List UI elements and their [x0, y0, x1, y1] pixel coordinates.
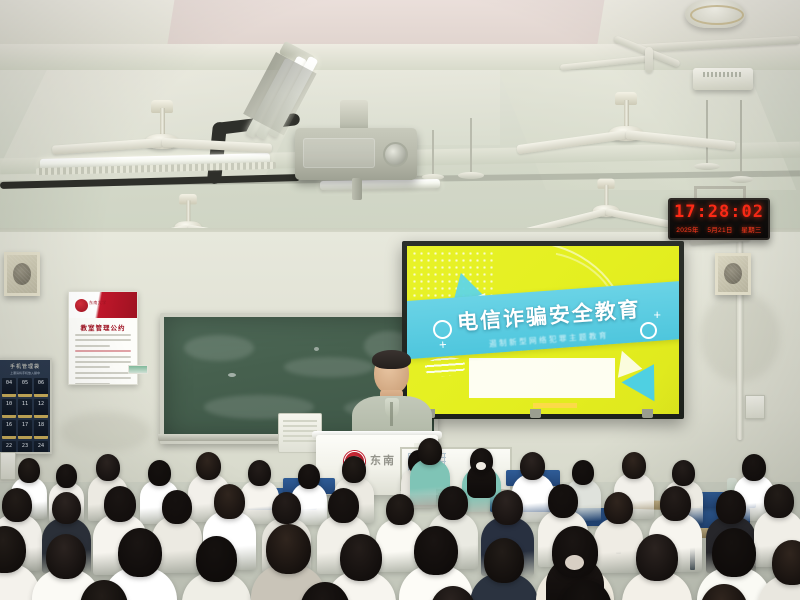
screen-mount-row [414, 409, 662, 418]
audience-member-head [298, 464, 320, 489]
audience-member-head [104, 486, 136, 522]
wall-speaker-right [715, 253, 751, 295]
projector-support-arm [352, 178, 362, 200]
ceiling-dome-light-ring [690, 5, 744, 25]
audience-member-head [660, 486, 691, 521]
audience-member-head [340, 534, 382, 581]
phone-board-cell-number: 05 [18, 380, 32, 386]
projector-body-panel [303, 138, 375, 168]
audience-member-head [272, 492, 301, 524]
audience-member-head [622, 452, 646, 479]
slide-yellow-underline [533, 403, 577, 408]
fan-rod [186, 200, 190, 222]
ceiling-hanger-rod-d [432, 130, 434, 178]
audience-member-head [56, 464, 77, 488]
audience-member-head [162, 490, 192, 524]
audience-member-head [672, 460, 695, 486]
slide-surface: + + 电信诈骗安全教育 遏制新型网络犯罪主题教育 [407, 246, 679, 414]
slide-white-content-box [469, 358, 615, 398]
clock-weekday: 星期三 [741, 224, 761, 234]
screen-mount-right [642, 409, 653, 418]
audience-member-head [414, 526, 458, 575]
phone-board-cell-number: 11 [18, 401, 32, 407]
ceiling-hanger-plate-a [694, 163, 720, 170]
projection-screen: + + 电信诈骗安全教育 遏制新型网络犯罪主题教育 [402, 241, 684, 419]
audience-member-head [604, 492, 633, 524]
wall-small-sign [128, 365, 148, 374]
ceiling-fan-right-far [592, 185, 620, 219]
wall-speaker-left [4, 252, 40, 296]
audience-member-head [418, 438, 442, 465]
ac-vent-grille [703, 72, 743, 77]
audience-member-head [712, 528, 756, 577]
ceiling-pipe-drop [645, 47, 653, 73]
audience-member-head [484, 538, 524, 583]
phone-board-cell: 11 [18, 399, 32, 418]
fan-rod [624, 100, 629, 128]
phone-board-subtitle: 上课请将手机放入袋中 [0, 371, 50, 375]
ceiling-hanger-rod-a [706, 100, 708, 168]
fan-rod [160, 108, 165, 136]
poster-body-text [75, 334, 131, 385]
audience-member-head [438, 486, 468, 520]
phone-board-cell-number: 17 [18, 422, 32, 428]
phone-board-cell: 10 [2, 399, 16, 418]
audience-member-head [548, 484, 578, 518]
ceiling-hanger-rod-b [740, 100, 742, 180]
poster-title: 教室管理公约 [69, 322, 137, 332]
audience-member-head [2, 488, 32, 522]
ceiling-fan-left [142, 108, 182, 158]
phone-board-cell-number: 12 [34, 401, 48, 407]
presenter-hair [372, 350, 411, 369]
university-emblem-icon [74, 298, 89, 313]
audience-member-head [266, 524, 311, 574]
ceiling-hanger-plate-c [458, 172, 484, 179]
audience-member-head [214, 484, 245, 519]
projector-lens [383, 142, 408, 167]
phone-board-cell-number: 10 [2, 401, 16, 407]
speaker-grille [718, 256, 748, 292]
audience-member-head [196, 536, 237, 582]
audience-member-head [764, 484, 794, 518]
audience-member-head [96, 454, 120, 481]
audience-member-head [492, 490, 523, 525]
phone-board-cell-number: 04 [2, 380, 16, 386]
audience-member-head [148, 460, 171, 486]
clock-date-row: 2025年 5月21日 星期三 [672, 224, 766, 234]
projector-ceiling-mount [340, 100, 368, 130]
ceiling-fan-right [606, 100, 646, 150]
audience-member-head [386, 494, 414, 525]
audience-member-head [118, 528, 162, 577]
phone-board-cell-number: 06 [34, 380, 48, 386]
audience-member-head [248, 460, 271, 486]
phone-board-cell: 12 [34, 399, 48, 418]
ceiling-hanger-plate-b [729, 176, 753, 183]
led-wall-clock: 17:28:02 2025年 5月21日 星期三 [668, 198, 770, 240]
phone-board-title: 手机管理袋 [0, 363, 50, 370]
audience-member-head [716, 490, 746, 524]
classroom-photo: 17:28:02 2025年 5月21日 星期三 东南大学 教室管理公约 手机管… [0, 0, 800, 600]
clock-year: 2025年 [676, 224, 698, 234]
audience-member-head [572, 460, 594, 485]
phone-board-cell: 06 [34, 378, 48, 397]
audience-member-head [772, 540, 800, 585]
phone-board-cell-number: 18 [34, 422, 48, 428]
audience-member-head [636, 534, 678, 581]
clock-date: 5月21日 [707, 224, 732, 234]
audience-member-head [342, 456, 366, 483]
ceiling-hanger-rod-c [470, 118, 472, 178]
wall-switch-box [745, 395, 765, 419]
audience-member-head [742, 454, 766, 481]
audience-section [0, 430, 800, 600]
phone-board-cell: 04 [2, 378, 16, 397]
hair-tie [565, 555, 584, 571]
audience-member-head [18, 458, 40, 483]
audience-member-head [520, 452, 545, 480]
audience-member-head [52, 492, 81, 524]
presenter-placket [390, 402, 393, 426]
screen-mount-center [530, 409, 541, 418]
poster-university-name: 东南大学 [89, 300, 107, 306]
fan-rod [604, 185, 608, 207]
audience-member-head [328, 488, 359, 523]
speaker-grille [7, 255, 37, 293]
audience-member-head [46, 534, 86, 579]
phone-board-cell-number: 16 [2, 422, 16, 428]
audience-member-head [196, 452, 221, 480]
ceiling-projector [295, 128, 417, 180]
phone-board-cell: 05 [18, 378, 32, 397]
clock-time: 17:28:02 [670, 202, 768, 222]
